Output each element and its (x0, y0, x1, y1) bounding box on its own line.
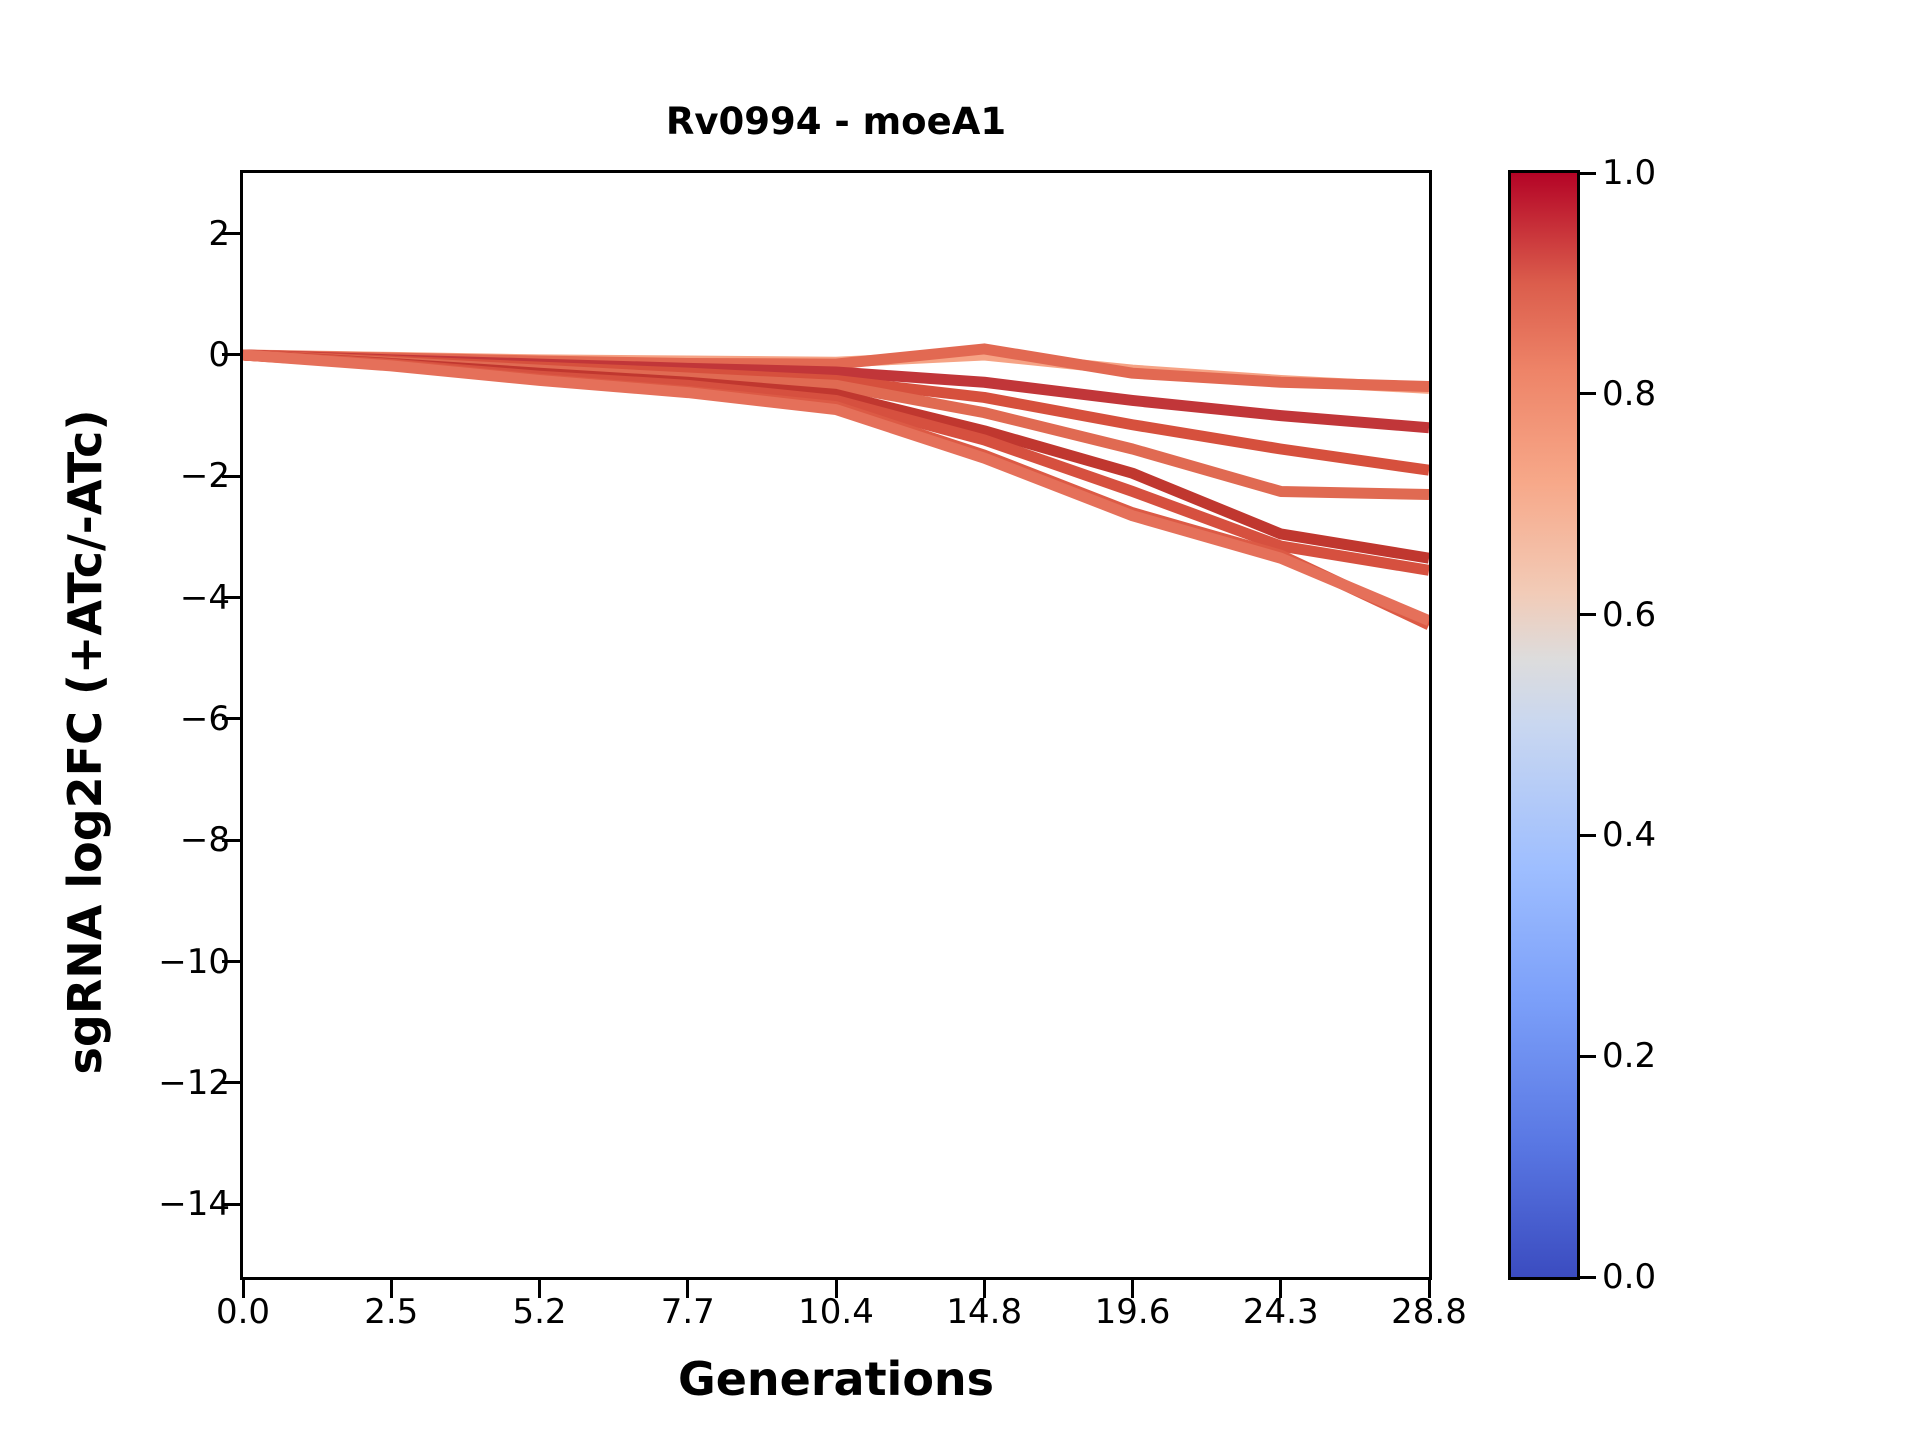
x-tick-mark (538, 1280, 541, 1298)
x-axis-title: Generations (240, 1352, 1432, 1406)
colorbar-tick-mark (1580, 392, 1596, 395)
x-tick-label: 0.0 (216, 1292, 270, 1332)
colorbar-tick-mark (1580, 172, 1596, 175)
y-tick-mark (222, 232, 240, 235)
y-tick-mark (222, 717, 240, 720)
line-plot-area (243, 173, 1429, 1277)
colorbar-tick-label: 0.4 (1602, 815, 1656, 855)
x-tick-mark (1428, 1280, 1431, 1298)
x-tick-mark (835, 1280, 838, 1298)
y-tick-label: −10 (158, 942, 230, 982)
colorbar-gradient (1511, 173, 1577, 1277)
x-tick-label: 7.7 (661, 1292, 715, 1332)
x-tick-label: 5.2 (512, 1292, 566, 1332)
x-tick-label: 19.6 (1095, 1292, 1171, 1332)
y-axis-title: sgRNA log2FC (+ATc/-ATc) (58, 187, 112, 1297)
figure-canvas: Rv0994 - moeA1 20−2−4−6−8−10−12−14 0.02.… (0, 0, 1920, 1440)
colorbar-tick-mark (1580, 834, 1596, 837)
x-tick-mark (1279, 1280, 1282, 1298)
colorbar-tick-mark (1580, 1276, 1596, 1279)
x-tick-mark (390, 1280, 393, 1298)
y-tick-mark (222, 353, 240, 356)
x-tick-label: 2.5 (364, 1292, 418, 1332)
y-tick-label: −14 (158, 1184, 230, 1224)
x-tick-label: 10.4 (798, 1292, 874, 1332)
y-tick-mark (222, 1081, 240, 1084)
y-tick-label: −12 (158, 1063, 230, 1103)
x-tick-mark (983, 1280, 986, 1298)
colorbar-tick-label: 0.2 (1602, 1036, 1656, 1076)
colorbar (1508, 170, 1580, 1280)
x-tick-mark (1131, 1280, 1134, 1298)
x-tick-label: 14.8 (946, 1292, 1022, 1332)
colorbar-tick-label: 1.0 (1602, 153, 1656, 193)
y-tick-mark (222, 596, 240, 599)
y-tick-mark (222, 475, 240, 478)
colorbar-tick-mark (1580, 613, 1596, 616)
colorbar-tick-label: 0.8 (1602, 374, 1656, 414)
x-tick-mark (242, 1280, 245, 1298)
y-tick-mark (222, 1203, 240, 1206)
colorbar-tick-mark (1580, 1055, 1596, 1058)
colorbar-tick-label: 0.0 (1602, 1257, 1656, 1297)
colorbar-tick-label: 0.6 (1602, 595, 1656, 635)
x-tick-label: 28.8 (1391, 1292, 1467, 1332)
chart-title: Rv0994 - moeA1 (240, 100, 1432, 143)
x-tick-mark (686, 1280, 689, 1298)
y-tick-mark (222, 839, 240, 842)
x-tick-label: 24.3 (1243, 1292, 1319, 1332)
y-tick-mark (222, 960, 240, 963)
